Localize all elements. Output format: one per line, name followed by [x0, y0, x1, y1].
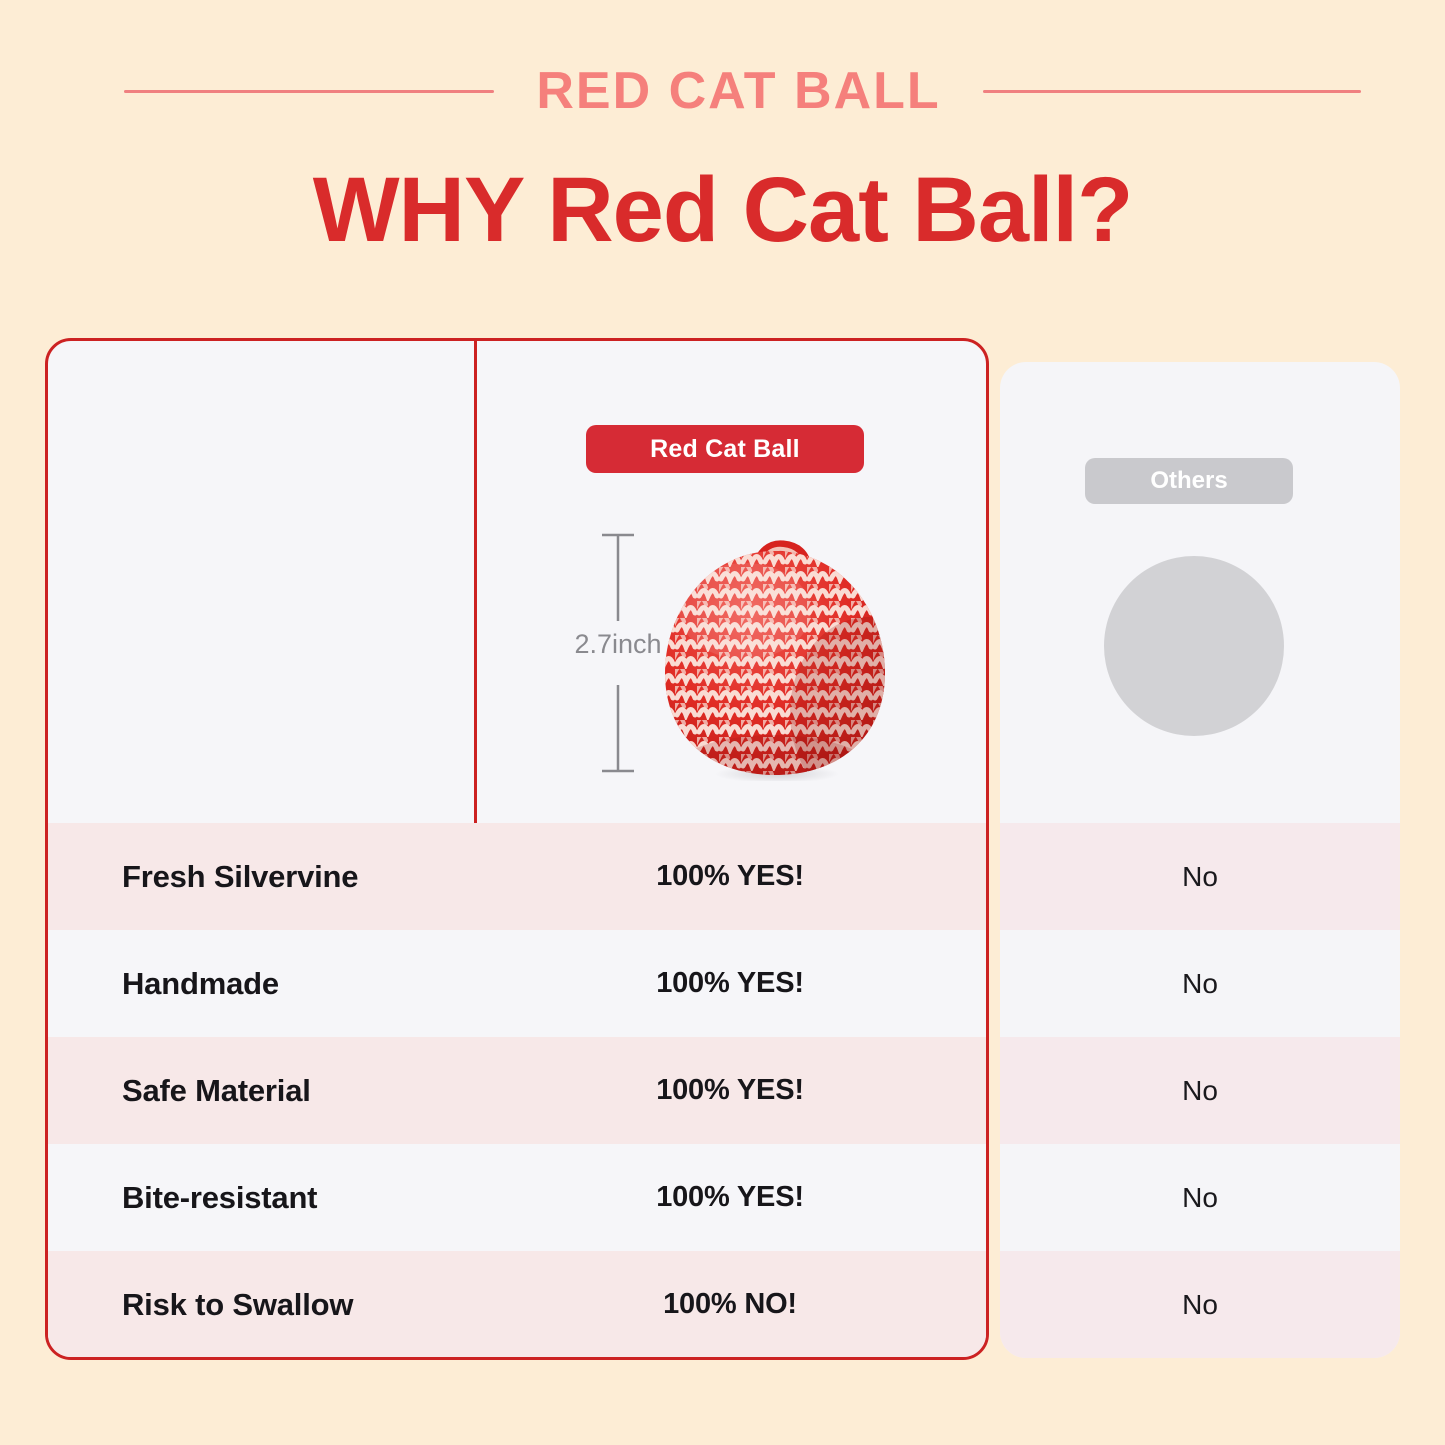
- crochet-ball-icon: [653, 533, 897, 781]
- others-value: No: [1000, 1182, 1400, 1214]
- product-comparison-card: Red Cat Ball 2.7inch: [45, 338, 989, 1360]
- others-value-rows: No No No No No: [1000, 823, 1400, 1358]
- feature-label: Handmade: [48, 966, 474, 1002]
- brand-name: RED CAT BALL: [536, 65, 940, 117]
- table-row: No: [1000, 1144, 1400, 1251]
- dimension-indicator: 2.7inch: [578, 533, 658, 773]
- product-badge-label: Red Cat Ball: [650, 435, 800, 464]
- table-row: No: [1000, 1037, 1400, 1144]
- product-value: 100% YES!: [474, 860, 986, 893]
- others-badge-label: Others: [1150, 467, 1227, 495]
- product-value: 100% YES!: [474, 967, 986, 1000]
- decorative-rule-right: [983, 90, 1361, 93]
- product-badge: Red Cat Ball: [586, 425, 864, 473]
- table-row: Handmade 100% YES!: [48, 930, 986, 1037]
- header-eyebrow: RED CAT BALL: [0, 48, 1445, 134]
- product-value: 100% YES!: [474, 1074, 986, 1107]
- others-placeholder-circle-icon: [1104, 556, 1284, 736]
- table-row: Risk to Swallow 100% NO!: [48, 1251, 986, 1358]
- table-row: Bite-resistant 100% YES!: [48, 1144, 986, 1251]
- feature-label: Bite-resistant: [48, 1180, 474, 1216]
- product-image-red-cat-ball: [653, 533, 897, 781]
- others-comparison-card: Others No No No No No: [1000, 362, 1400, 1358]
- decorative-rule-left: [124, 90, 494, 93]
- table-row: No: [1000, 823, 1400, 930]
- table-row: Safe Material 100% YES!: [48, 1037, 986, 1144]
- table-row: No: [1000, 1251, 1400, 1358]
- others-badge: Others: [1085, 458, 1293, 504]
- others-value: No: [1000, 1289, 1400, 1321]
- feature-label: Risk to Swallow: [48, 1287, 474, 1323]
- product-hero: Red Cat Ball 2.7inch: [48, 341, 986, 823]
- feature-label: Safe Material: [48, 1073, 474, 1109]
- product-value: 100% YES!: [474, 1181, 986, 1214]
- table-row: Fresh Silvervine 100% YES!: [48, 823, 986, 930]
- others-value: No: [1000, 1075, 1400, 1107]
- others-hero: Others: [1000, 362, 1400, 823]
- feature-label: Fresh Silvervine: [48, 859, 474, 895]
- others-value: No: [1000, 861, 1400, 893]
- comparison-rows: Fresh Silvervine 100% YES! Handmade 100%…: [48, 823, 986, 1358]
- others-value: No: [1000, 968, 1400, 1000]
- table-row: No: [1000, 930, 1400, 1037]
- product-value: 100% NO!: [474, 1288, 986, 1321]
- page-title: WHY Red Cat Ball?: [0, 160, 1445, 261]
